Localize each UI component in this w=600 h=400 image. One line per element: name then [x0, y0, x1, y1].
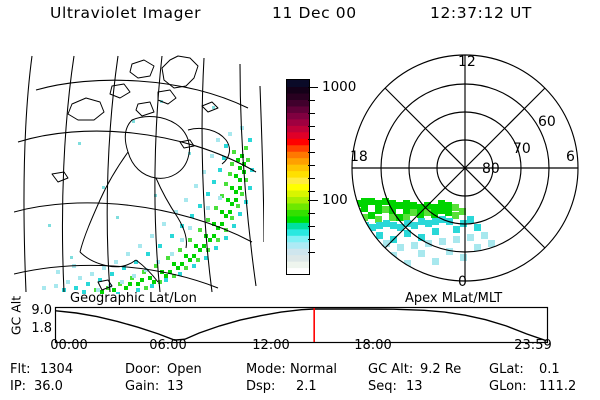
time-tick-0600: 06:00 — [133, 338, 203, 353]
status-door-key: Door: — [125, 362, 160, 377]
status-block: Flt: 1304 Door: Open Mode: Normal GC Alt… — [0, 362, 600, 396]
colorbar-tick-minor — [308, 213, 315, 214]
observation-time: 12:37:12 UT — [430, 4, 532, 22]
observation-date: 11 Dec 00 — [272, 4, 357, 22]
polar-dial-svg: 12 18 6 0 60 70 80 — [348, 48, 592, 296]
header: Ultraviolet Imager 11 Dec 00 12:37:12 UT — [0, 4, 600, 30]
status-glat-key: GLat: — [489, 362, 524, 377]
colorbar-tick-minor — [308, 100, 315, 101]
mlt-label-0: 0 — [458, 274, 467, 290]
colorbar-ticks — [308, 79, 318, 275]
colorbar-gradient-box — [286, 79, 310, 275]
mlt-label-18: 18 — [350, 149, 368, 165]
geographic-globe-panel — [12, 46, 264, 294]
colorbar-tick-minor — [308, 139, 315, 140]
mlt-label-12: 12 — [458, 54, 476, 70]
mlt-spokes — [352, 55, 578, 281]
colorbar-tick-minor — [308, 239, 315, 240]
gc-alt-track-svg — [0, 306, 600, 362]
status-gain-value: 13 — [167, 379, 184, 394]
status-flt-key: Flt: — [10, 362, 31, 377]
aurora-emission-polar — [348, 196, 495, 267]
status-glon-value: 111.2 — [539, 379, 576, 394]
instrument-title: Ultraviolet Imager — [50, 4, 201, 22]
colorbar: photon cm-2s-1 1000 100 — [262, 70, 354, 285]
mlat-label-80: 80 — [482, 161, 500, 177]
apex-mlat-mlt-panel: 12 18 6 0 60 70 80 — [348, 48, 592, 296]
colorbar-tick-minor — [308, 191, 315, 192]
status-mode-key: Mode: — [246, 362, 286, 377]
colorbar-tick-minor — [308, 152, 315, 153]
gc-alt-track-line — [56, 309, 547, 341]
gc-alt-plot: GC Alt 9.0 1.8 Geographic Lat/Lon Apex M… — [0, 292, 600, 354]
aurora-emission-geographic — [42, 100, 254, 294]
status-row-1: Flt: 1304 Door: Open Mode: Normal GC Alt… — [0, 362, 600, 379]
colorbar-tick-minor — [308, 113, 315, 114]
uvi-display: Ultraviolet Imager 11 Dec 00 12:37:12 UT — [0, 0, 600, 400]
status-flt-value: 1304 — [40, 362, 73, 377]
status-seq-value: 13 — [406, 379, 423, 394]
status-mode-value: Normal — [290, 362, 337, 377]
status-row-2: IP: 36.0 Gain: 13 Dsp: 2.1 Seq: 13 GLon:… — [0, 379, 600, 396]
status-seq-key: Seq: — [368, 379, 397, 394]
globe-contents — [14, 56, 264, 294]
status-gain-key: Gain: — [125, 379, 159, 394]
colorbar-label-100: 100 — [322, 192, 348, 208]
time-tick-0000: 00:00 — [34, 338, 104, 353]
globe-svg — [12, 46, 264, 294]
geo-panel-title: Geographic Lat/Lon — [70, 291, 197, 306]
status-ip-value: 36.0 — [34, 379, 63, 394]
mlt-label-6: 6 — [566, 149, 575, 165]
colorbar-tick-minor — [308, 126, 315, 127]
status-gcalt-value: 9.2 Re — [420, 362, 461, 377]
status-glon-key: GLon: — [489, 379, 527, 394]
mlt-panel-title: Apex MLat/MLT — [405, 291, 502, 306]
status-ip-key: IP: — [10, 379, 26, 394]
mlat-label-70: 70 — [513, 141, 531, 157]
colorbar-tick-minor — [308, 165, 315, 166]
status-dsp-value: 2.1 — [296, 379, 317, 394]
colorbar-tick-100 — [308, 200, 318, 201]
status-dsp-key: Dsp: — [246, 379, 275, 394]
colorbar-gradient — [287, 80, 309, 274]
status-door-value: Open — [167, 362, 202, 377]
time-tick-1200: 12:00 — [236, 338, 306, 353]
colorbar-tick-1000 — [308, 87, 318, 88]
status-glat-value: 0.1 — [539, 362, 560, 377]
mlat-label-60: 60 — [538, 114, 556, 130]
time-tick-2359: 23:59 — [498, 338, 568, 353]
colorbar-tick-minor — [308, 178, 315, 179]
time-tick-1800: 18:00 — [338, 338, 408, 353]
colorbar-tick-minor — [308, 226, 315, 227]
status-gcalt-key: GC Alt: — [368, 362, 413, 377]
colorbar-tick-minor — [308, 252, 315, 253]
